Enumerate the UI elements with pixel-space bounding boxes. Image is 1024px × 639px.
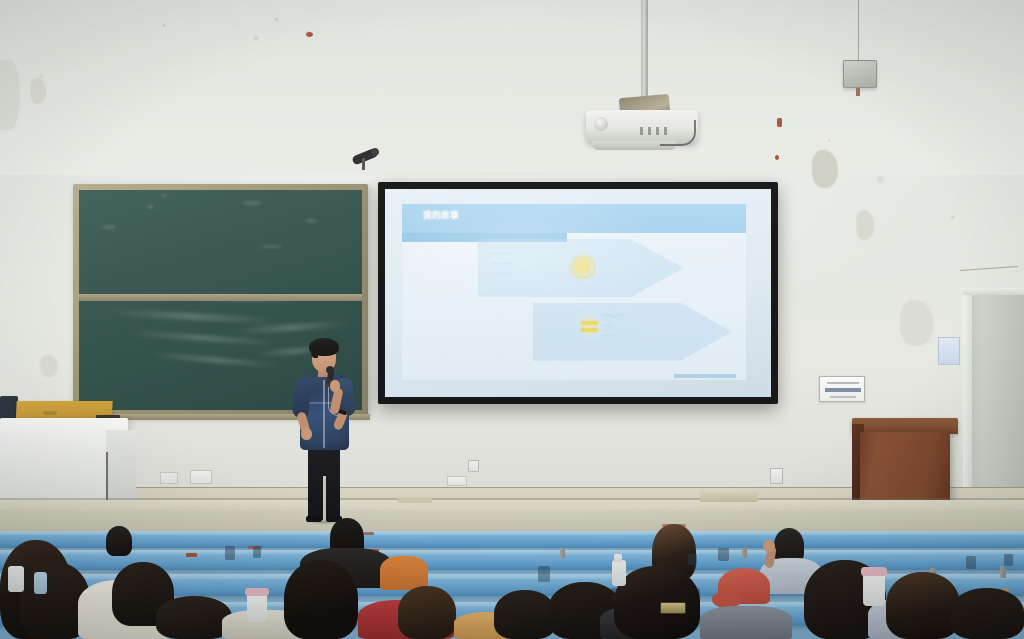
bench-edge <box>0 550 1024 554</box>
doorway-alcove <box>969 293 1024 508</box>
bench-item <box>1004 554 1013 566</box>
gear-people-icon <box>560 246 605 287</box>
chalk-smudge <box>147 205 154 209</box>
bench-leg <box>742 548 747 558</box>
chalk-smudge <box>305 219 317 223</box>
projector-cable <box>660 120 696 146</box>
wall-paint-peel <box>856 210 874 240</box>
doorway-lintel <box>963 288 1024 295</box>
slide-text-line: ······，···· <box>492 259 513 269</box>
audience-shoulders <box>700 606 792 639</box>
chalkboard-divider <box>79 294 362 301</box>
water-bottle <box>612 560 626 586</box>
electrical-conduit <box>858 0 859 60</box>
wall-paint-peel <box>812 150 838 188</box>
projector-vent <box>640 127 643 135</box>
slide-title: 我的故事 <box>423 209 459 221</box>
audience-head <box>614 566 700 639</box>
chalk-smudge <box>102 225 116 229</box>
presenter-shoe <box>306 516 322 522</box>
wall-notice <box>190 470 212 484</box>
wall-red-mark <box>306 32 313 37</box>
presenter-hand-holding-mic <box>330 380 340 392</box>
paper-cup <box>247 592 267 622</box>
wall-plaque-icon <box>819 376 865 402</box>
chalk-smudge <box>161 194 167 197</box>
presenter-hand <box>301 428 312 440</box>
list-lines-icon <box>572 311 606 341</box>
bench-item <box>718 548 729 561</box>
classroom-photo-scene: 我的故事 ······，···· ······，···· ······，····… <box>0 0 1024 639</box>
shirt-button-placket <box>323 380 325 448</box>
slide-text-line: ······，···· <box>492 249 513 259</box>
presenter-leg-gap <box>323 476 326 520</box>
doorway-jamb <box>963 290 972 510</box>
paper-cup <box>863 572 885 606</box>
audience-shoulders <box>380 556 428 590</box>
wall-outlet[interactable] <box>770 468 783 484</box>
slide-chevron-bottom <box>533 303 732 361</box>
chalk-smudge <box>243 201 261 205</box>
audience-head <box>950 588 1024 639</box>
presentation-slide: 我的故事 ······，···· ······，···· ······，····… <box>402 204 746 381</box>
stage-step <box>398 496 432 503</box>
wall-notice <box>447 476 467 486</box>
bench-leg <box>1000 566 1006 578</box>
water-bottle <box>8 566 24 592</box>
water-bottle <box>34 572 47 594</box>
slide-text-block-top: ······，···· ······，···· ······，···· <box>492 249 513 279</box>
wall-paint-peel <box>30 78 46 104</box>
audience-head <box>106 526 132 556</box>
wall-red-mark <box>775 155 779 160</box>
bench-item <box>966 556 976 569</box>
microphone-capsule <box>326 366 334 374</box>
wall-red-mark <box>777 118 782 127</box>
bench-leg <box>560 548 565 558</box>
audience-head <box>156 596 232 639</box>
bench-item <box>253 546 261 558</box>
slide-text-line: ······，···· <box>492 269 513 279</box>
wall-paint-peel <box>0 60 20 130</box>
audience-head <box>398 586 456 639</box>
projector-vent <box>648 127 651 135</box>
wall-camera-base <box>371 148 379 156</box>
slide-footer-accent <box>674 374 736 378</box>
audience-head <box>494 590 556 639</box>
wall-paint-peel <box>40 355 58 377</box>
paper-cup-lid <box>245 588 269 596</box>
wall-notice <box>160 472 178 484</box>
plaque-line <box>827 382 859 384</box>
plaque-line <box>825 388 861 392</box>
junction-box-icon <box>843 60 877 88</box>
water-bottle <box>614 554 622 562</box>
stage-step <box>700 492 758 502</box>
presenter <box>292 336 356 526</box>
paper-cup-lid <box>861 567 887 576</box>
bench-item <box>688 554 697 565</box>
junction-box-stub <box>856 88 860 96</box>
chalk-streak <box>107 309 277 325</box>
hair-clip <box>660 602 686 614</box>
projection-screen: 我的故事 ······，···· ······，···· ······，····… <box>378 182 778 404</box>
bench-item <box>538 566 550 582</box>
audience-head <box>886 572 960 639</box>
plaque-line <box>830 396 856 398</box>
bench-edge <box>0 531 1024 535</box>
desk-lid-handle[interactable] <box>43 411 57 415</box>
chalk-smudge <box>260 245 282 248</box>
wall-camera-mount <box>362 158 365 170</box>
presenter-hair <box>309 338 339 356</box>
audience-head <box>284 560 358 639</box>
audience-raised-hand <box>763 540 775 552</box>
bench-marking <box>364 532 374 535</box>
projector-mount-pole <box>641 0 648 110</box>
bench-item <box>225 546 235 560</box>
projector-vent <box>656 127 659 135</box>
projector-lens-icon <box>594 117 608 131</box>
wall-outlet[interactable] <box>468 460 479 472</box>
screen-surface: 我的故事 ······，···· ······，···· ······，····… <box>385 189 771 397</box>
bench-marking <box>186 553 197 557</box>
wall-paint-peel <box>900 300 934 346</box>
wall-blue-notice <box>938 337 960 365</box>
